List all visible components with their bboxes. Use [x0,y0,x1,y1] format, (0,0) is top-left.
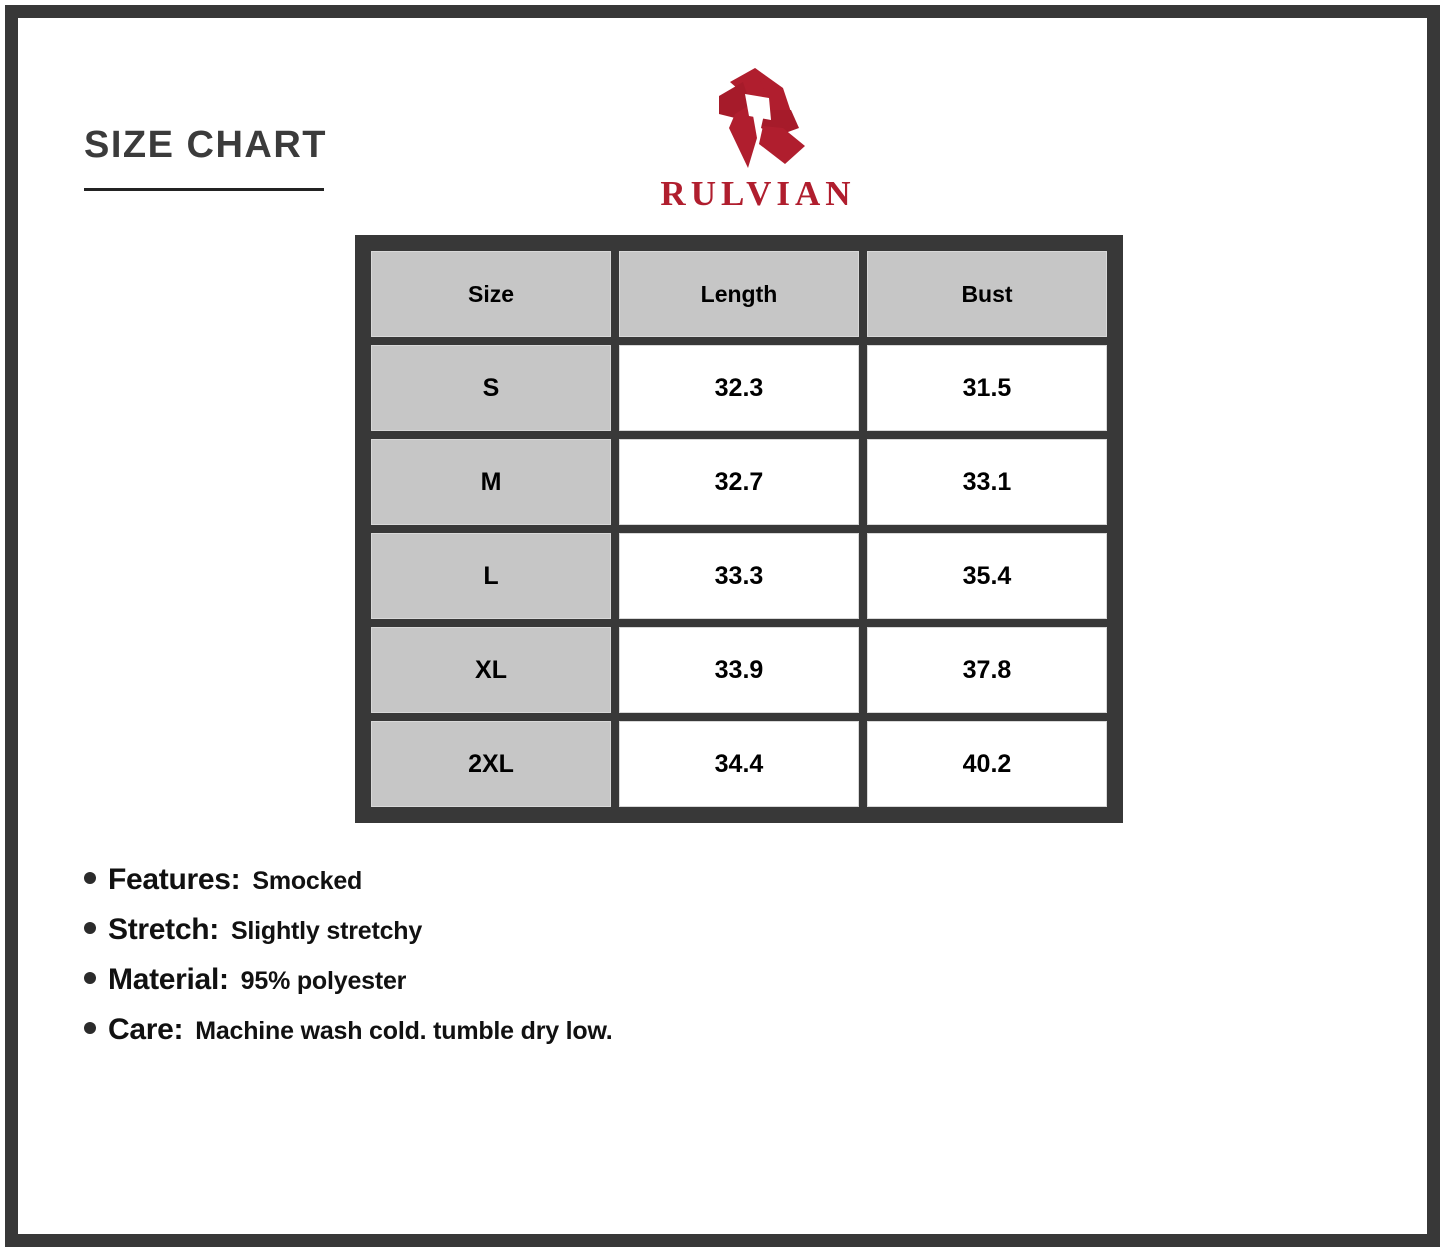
cell-length: 32.7 [619,439,859,525]
cell-length: 33.9 [619,627,859,713]
page-title-block: SIZE CHART [84,126,384,191]
rulvian-r-monogram-icon [699,66,817,170]
page-border-frame: SIZE CHART RULVIAN Size Len [5,5,1440,1247]
size-chart-page: SIZE CHART RULVIAN Size Len [0,0,1445,1252]
list-item: Stretch: Slightly stretchy [84,913,984,947]
column-header-length: Length [619,251,859,337]
cell-size: 2XL [371,721,611,807]
cell-bust: 33.1 [867,439,1107,525]
cell-length: 34.4 [619,721,859,807]
table-row: 2XL 34.4 40.2 [371,721,1107,807]
spec-label-features: Features: [108,863,240,897]
spec-value-care: Machine wash cold. tumble dry low. [195,1017,612,1046]
table-header-row: Size Length Bust [371,251,1107,337]
cell-bust: 31.5 [867,345,1107,431]
bullet-icon [84,872,96,884]
list-item: Care: Machine wash cold. tumble dry low. [84,1013,984,1047]
table-row: L 33.3 35.4 [371,533,1107,619]
bullet-icon [84,972,96,984]
cell-size: M [371,439,611,525]
bullet-icon [84,922,96,934]
spec-value-stretch: Slightly stretchy [231,917,422,946]
title-underline [84,188,324,191]
cell-size: L [371,533,611,619]
spec-label-care: Care: [108,1013,183,1047]
table-row: M 32.7 33.1 [371,439,1107,525]
table-row: S 32.3 31.5 [371,345,1107,431]
product-specs-list: Features: Smocked Stretch: Slightly stre… [84,863,984,1063]
cell-size: XL [371,627,611,713]
column-header-size: Size [371,251,611,337]
brand-name: RULVIAN [618,176,898,211]
page-title: SIZE CHART [84,126,384,164]
spec-value-material: 95% polyester [241,967,407,996]
list-item: Features: Smocked [84,863,984,897]
cell-bust: 37.8 [867,627,1107,713]
table-row: XL 33.9 37.8 [371,627,1107,713]
column-header-bust: Bust [867,251,1107,337]
cell-length: 33.3 [619,533,859,619]
spec-value-features: Smocked [252,867,362,896]
list-item: Material: 95% polyester [84,963,984,997]
cell-size: S [371,345,611,431]
cell-bust: 35.4 [867,533,1107,619]
bullet-icon [84,1022,96,1034]
spec-label-stretch: Stretch: [108,913,219,947]
cell-bust: 40.2 [867,721,1107,807]
brand-logo-block: RULVIAN [618,66,898,211]
cell-length: 32.3 [619,345,859,431]
size-chart-table: Size Length Bust S 32.3 31.5 M 32.7 33.1 [355,235,1123,823]
spec-label-material: Material: [108,963,229,997]
